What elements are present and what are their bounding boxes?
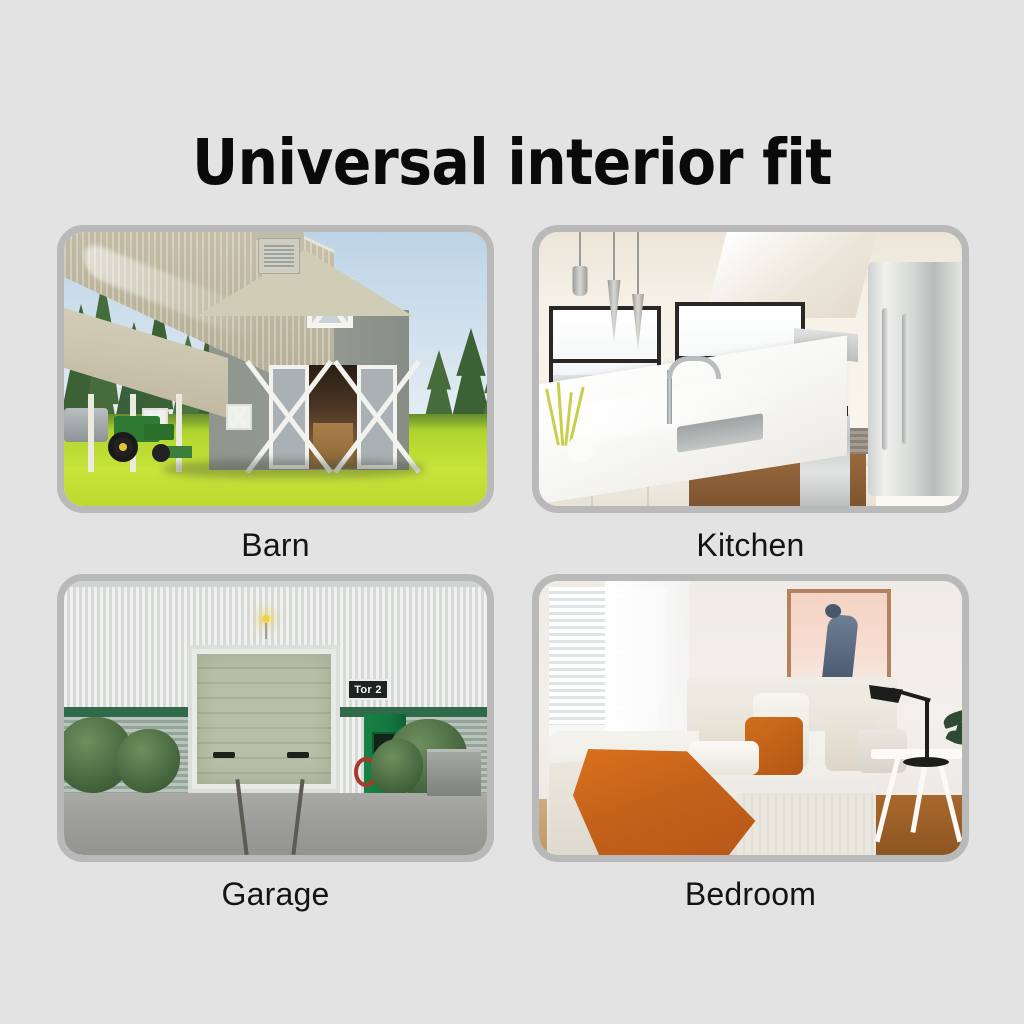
gooseneck-faucet <box>667 370 672 424</box>
image-card-kitchen[interactable] <box>532 225 969 513</box>
card-caption-bedroom: Bedroom <box>532 862 969 913</box>
door-handle-right <box>287 752 309 758</box>
industrial-garage-photo: Tor 2 <box>64 581 487 855</box>
gallery-cell-kitchen: Kitchen <box>532 225 969 564</box>
tractor-hood <box>144 424 174 440</box>
tractor-front-wheel <box>152 444 170 462</box>
gable-trim <box>197 250 413 316</box>
lean-to-post <box>88 394 94 472</box>
metal-container <box>427 749 481 796</box>
card-caption-garage: Garage <box>57 862 494 913</box>
card-caption-barn: Barn <box>57 513 494 564</box>
door-handle-left <box>213 752 235 758</box>
page-title: Universal interior fit <box>0 128 1024 197</box>
sectional-overhead-door <box>197 654 331 784</box>
barn-sliding-door-left <box>269 365 309 469</box>
page-root: Universal interior fit <box>0 0 1024 1024</box>
barn-sliding-door-right <box>357 365 397 469</box>
pendant-light-1 <box>579 232 581 266</box>
tractor-rear-wheel <box>108 432 138 462</box>
desk-lamp-stem <box>925 699 929 759</box>
image-card-barn[interactable] <box>57 225 494 513</box>
decor-vase <box>567 436 593 462</box>
concrete-apron <box>64 793 487 855</box>
green-tractor <box>100 410 178 464</box>
roof-edge <box>64 581 487 587</box>
desk-lamp-base <box>903 757 949 767</box>
door-number-sign: Tor 2 <box>347 679 389 700</box>
wall-lamp-icon <box>262 615 270 623</box>
image-card-garage[interactable]: Tor 2 <box>57 574 494 862</box>
gallery-cell-bedroom: Bedroom <box>532 574 969 913</box>
bed-skirt <box>737 793 876 855</box>
potted-plant <box>943 713 962 757</box>
fridge-handle <box>902 314 908 444</box>
cupola-louvers <box>264 245 294 269</box>
card-caption-kitchen: Kitchen <box>532 513 969 564</box>
modern-kitchen-photo <box>539 232 962 506</box>
pendant-light-3 <box>637 232 639 294</box>
barn-exterior-photo <box>64 232 487 506</box>
lamp-stem <box>265 623 267 639</box>
pendant-light-2 <box>613 232 615 280</box>
barn-wall-vent <box>226 404 252 430</box>
gallery-cell-barn: Barn <box>57 225 494 564</box>
image-card-bedroom[interactable] <box>532 574 969 862</box>
stainless-refrigerator <box>868 262 962 496</box>
barn-ground-shadow <box>164 460 424 478</box>
image-gallery-grid: Barn <box>57 225 969 913</box>
overhead-door-frame <box>188 645 340 793</box>
styled-bedroom-photo <box>539 581 962 855</box>
cupola <box>258 238 300 274</box>
gallery-cell-garage: Tor 2 Garage <box>57 574 494 913</box>
